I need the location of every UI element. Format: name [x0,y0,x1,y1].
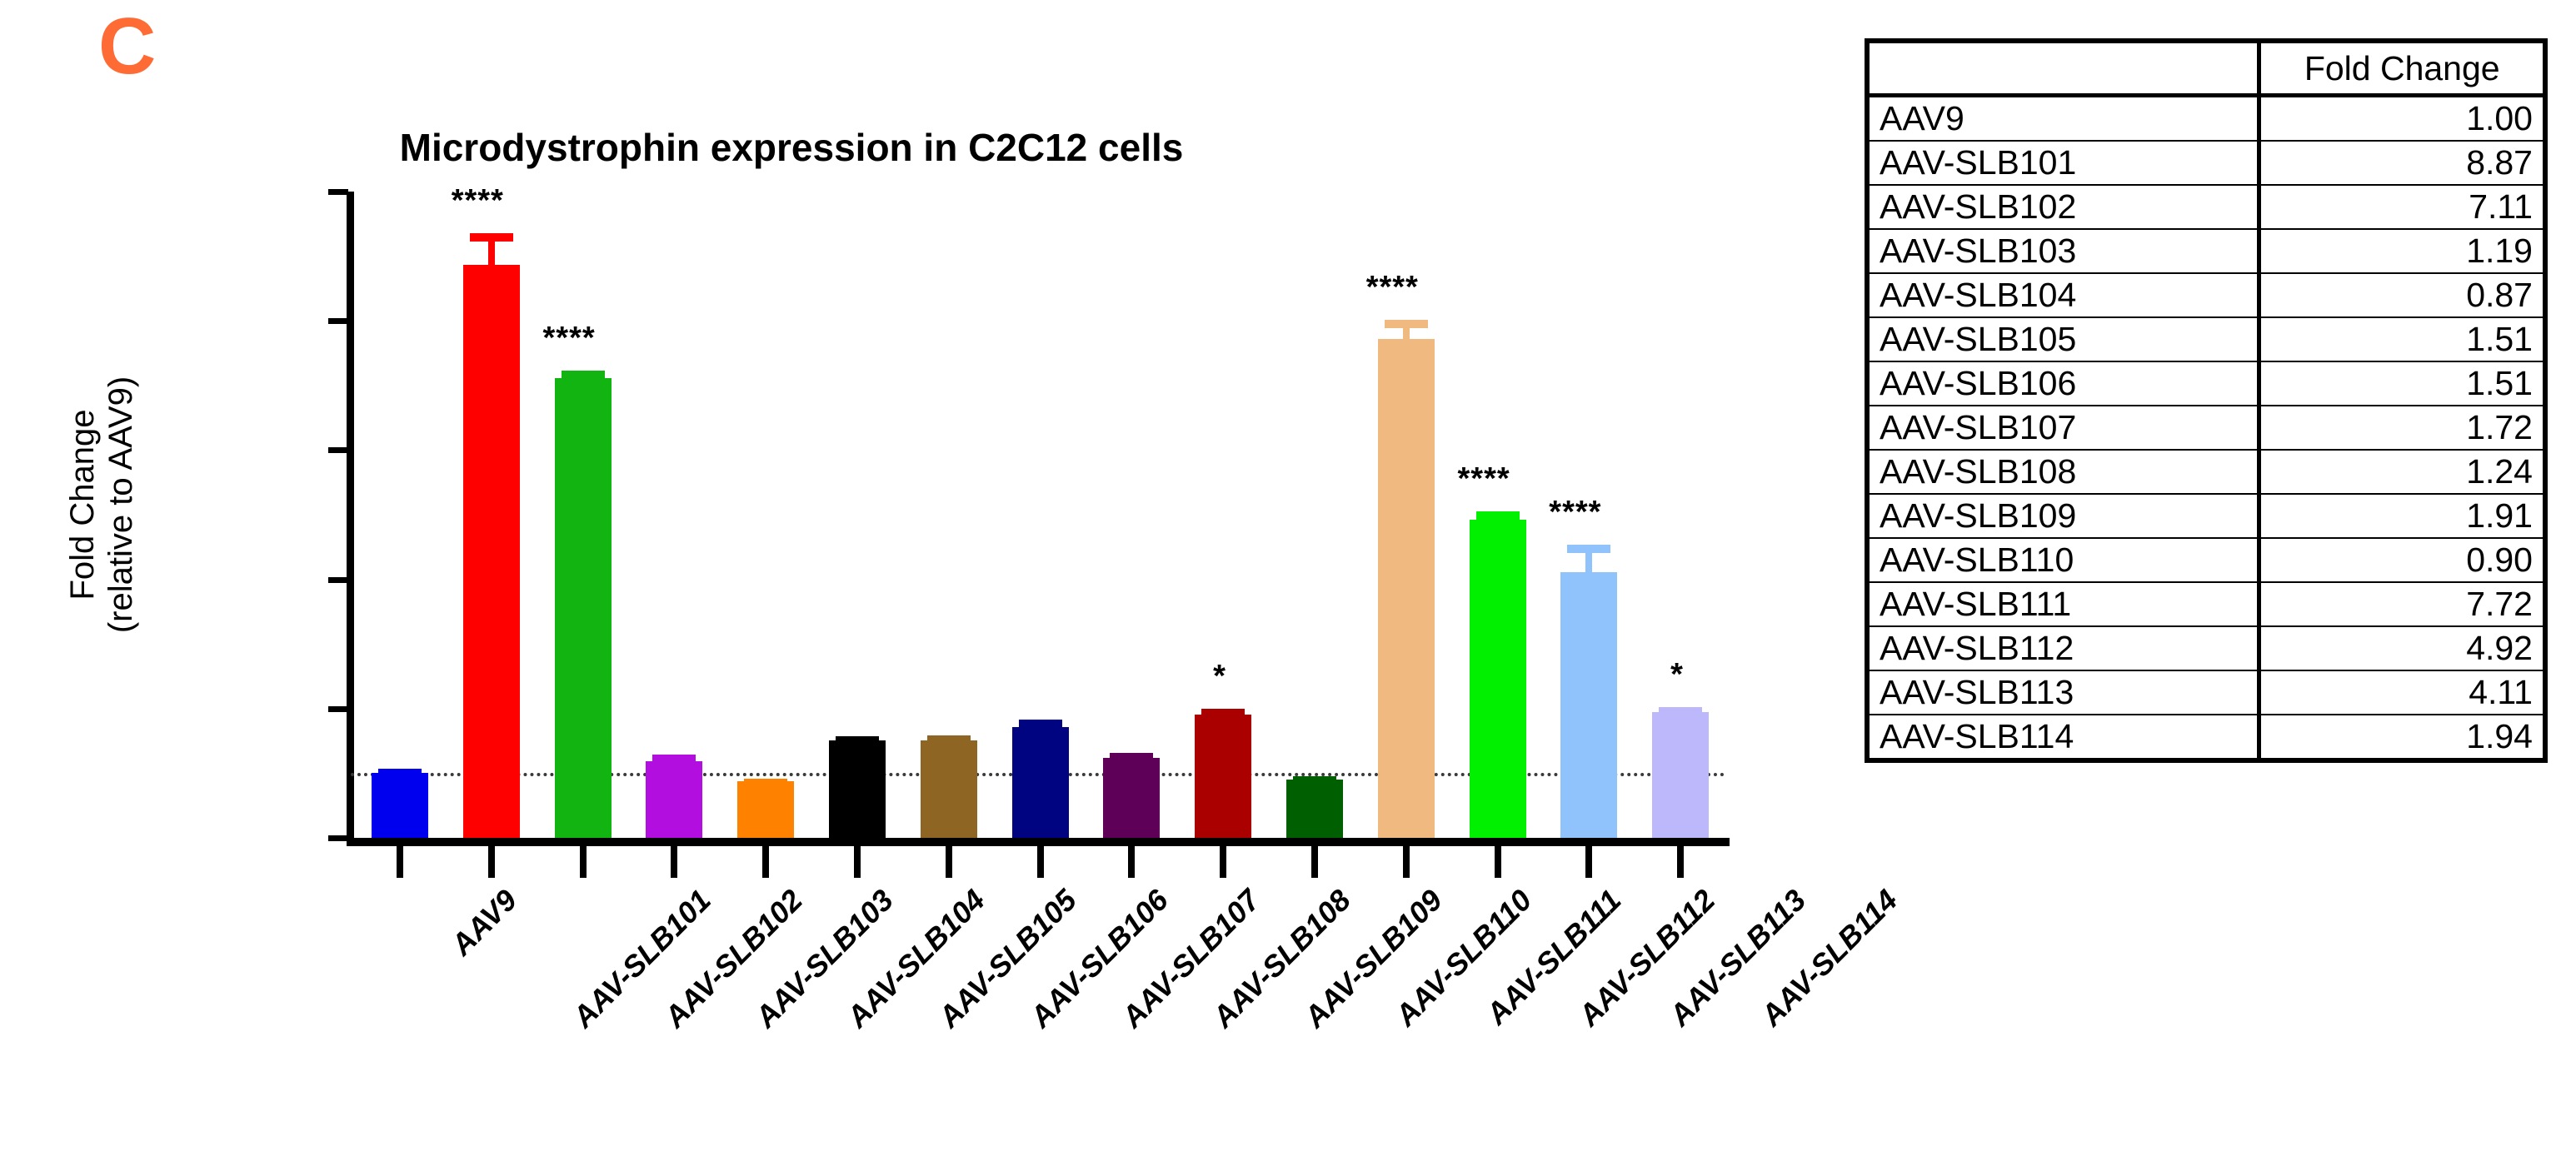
table-cell-name-aav9: AAV9 [1867,96,2259,142]
table-row: AAV-SLB1141.94 [1867,715,2545,760]
table-cell-name-aav-slb101: AAV-SLB101 [1867,141,2259,185]
table-row: AAV-SLB1051.51 [1867,317,2545,361]
table-cell-name-aav-slb108: AAV-SLB108 [1867,450,2259,494]
table-cell-name-aav-slb107: AAV-SLB107 [1867,406,2259,450]
significance-aav-slb101: **** [452,185,504,217]
table-row: AAV-SLB1031.19 [1867,229,2545,273]
bar-aav-slb108 [1103,758,1160,838]
significance-aav-slb111: **** [1366,272,1419,303]
bar-aav-slb110 [1286,780,1343,838]
significance-aav-slb114: * [1670,659,1684,690]
table-row: AAV-SLB1040.87 [1867,273,2545,317]
error-bar-cap-14 [1659,707,1702,715]
error-bar-cap-7 [1019,720,1062,728]
table-cell-value-aav-slb112: 4.92 [2259,626,2545,670]
bar-aav-slb114 [1652,712,1709,838]
figure-panel: C Microdystrophin expression in C2C12 ce… [0,0,1833,1156]
bar-aav-slb113 [1560,572,1617,838]
table-row: AAV-SLB1061.51 [1867,361,2545,406]
bar-aav-slb105 [829,740,886,838]
table-body: AAV91.00AAV-SLB1018.87AAV-SLB1027.11AAV-… [1867,96,2545,761]
error-bar-cap-4 [744,779,787,787]
table-row: AAV-SLB1134.11 [1867,670,2545,715]
table-cell-name-aav-slb111: AAV-SLB111 [1867,582,2259,626]
significance-aav-slb113: **** [1549,496,1601,528]
table-cell-name-aav-slb102: AAV-SLB102 [1867,185,2259,229]
table-cell-value-aav-slb105: 1.51 [2259,317,2545,361]
table-cell-name-aav-slb103: AAV-SLB103 [1867,229,2259,273]
table-header-value: Fold Change [2259,41,2545,96]
table-row: AAV-SLB1091.91 [1867,494,2545,538]
error-bar-cap-12 [1476,511,1520,520]
table-cell-value-aav-slb107: 1.72 [2259,406,2545,450]
error-bar-cap-9 [1201,709,1245,717]
error-bar-cap-1 [470,233,513,242]
significance-aav-slb109: * [1213,660,1226,692]
table-cell-value-aav9: 1.00 [2259,96,2545,142]
table-row: AAV-SLB1081.24 [1867,450,2545,494]
bar-aav-slb103 [646,761,702,838]
table-cell-name-aav-slb106: AAV-SLB106 [1867,361,2259,406]
table-cell-name-aav-slb110: AAV-SLB110 [1867,538,2259,582]
bar-aav-slb111 [1378,339,1435,838]
bar-aav-slb106 [921,740,977,838]
table-cell-name-aav-slb105: AAV-SLB105 [1867,317,2259,361]
table-cell-value-aav-slb104: 0.87 [2259,273,2545,317]
significance-aav-slb112: **** [1458,463,1510,495]
table-cell-value-aav-slb114: 1.94 [2259,715,2545,760]
error-bar-cap-6 [927,735,971,744]
table-row: AAV-SLB1018.87 [1867,141,2545,185]
bar-aav-slb104 [737,781,794,838]
error-bar-cap-2 [562,371,605,379]
table-cell-value-aav-slb110: 0.90 [2259,538,2545,582]
error-bar-cap-0 [378,769,422,777]
table-cell-value-aav-slb111: 7.72 [2259,582,2545,626]
bar-aav-slb101 [463,265,520,838]
error-bar-cap-10 [1293,776,1336,785]
table-cell-value-aav-slb113: 4.11 [2259,670,2545,715]
table-cell-name-aav-slb112: AAV-SLB112 [1867,626,2259,670]
error-bar-cap-8 [1110,753,1153,761]
table-head: Fold Change [1867,41,2545,96]
bar-aav9 [372,773,428,838]
table-row: AAV-SLB1117.72 [1867,582,2545,626]
error-bar-cap-5 [836,736,879,745]
table-cell-value-aav-slb106: 1.51 [2259,361,2545,406]
table-cell-name-aav-slb113: AAV-SLB113 [1867,670,2259,715]
bar-aav-slb109 [1195,715,1251,838]
bar-aav-slb112 [1470,520,1526,838]
fold-change-table: Fold Change AAV91.00AAV-SLB1018.87AAV-SL… [1865,38,2548,763]
table-cell-value-aav-slb102: 7.11 [2259,185,2545,229]
bar-aav-slb102 [555,378,612,838]
bars-layer: ********************** [0,0,1833,1156]
fold-change-table-wrapper: Fold Change AAV91.00AAV-SLB1018.87AAV-SL… [1865,38,2548,763]
table-row: AAV-SLB1071.72 [1867,406,2545,450]
table-header-row: Fold Change [1867,41,2545,96]
table-row: AAV-SLB1124.92 [1867,626,2545,670]
table-cell-name-aav-slb104: AAV-SLB104 [1867,273,2259,317]
table-row: AAV-SLB1100.90 [1867,538,2545,582]
table-cell-name-aav-slb109: AAV-SLB109 [1867,494,2259,538]
table-row: AAV-SLB1027.11 [1867,185,2545,229]
table-row: AAV91.00 [1867,96,2545,142]
table-cell-value-aav-slb108: 1.24 [2259,450,2545,494]
table-cell-name-aav-slb114: AAV-SLB114 [1867,715,2259,760]
table-cell-value-aav-slb101: 8.87 [2259,141,2545,185]
error-bar-cap-3 [652,755,696,763]
significance-aav-slb102: **** [543,322,596,354]
table-cell-value-aav-slb103: 1.19 [2259,229,2545,273]
bar-aav-slb107 [1012,727,1069,838]
error-bar-cap-13 [1567,545,1610,553]
bar-chart-plot: Fold Change (relative to AAV9) 0246810 *… [0,0,1833,1156]
table-cell-value-aav-slb109: 1.91 [2259,494,2545,538]
error-bar-cap-11 [1385,320,1428,328]
table-header-name [1867,41,2259,96]
